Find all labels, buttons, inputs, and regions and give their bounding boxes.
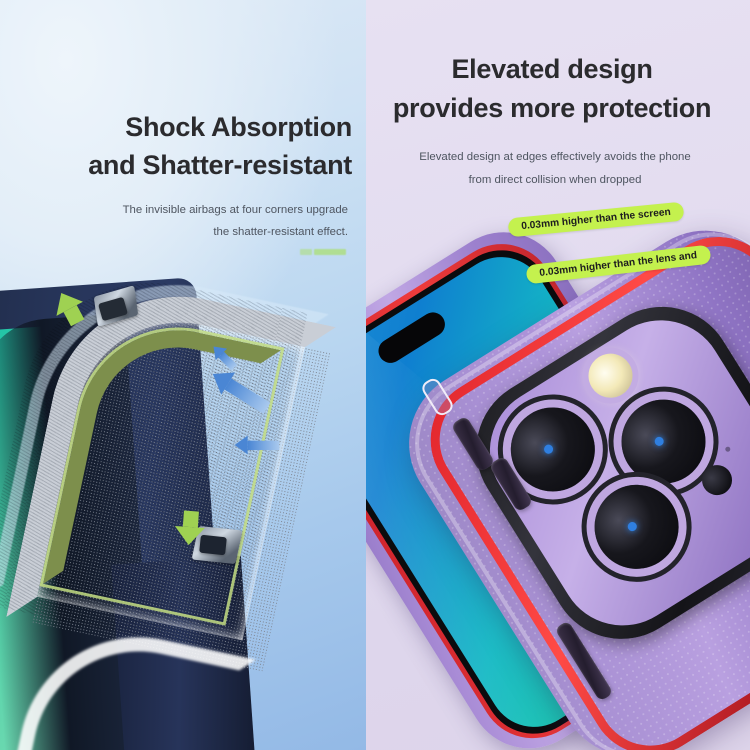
left-subtitle: The invisible airbags at four corners up… — [0, 200, 348, 244]
right-subtitle: Elevated design at edges effectively avo… — [366, 146, 744, 192]
green-highlight-artifact-small — [300, 249, 312, 255]
left-headline-line1: Shock Absorption — [0, 108, 352, 146]
right-headline: Elevated design provides more protection — [366, 50, 744, 128]
right-subtitle-line1: Elevated design at edges effectively avo… — [366, 146, 744, 169]
green-highlight-artifact — [314, 249, 346, 255]
right-headline-line1: Elevated design — [366, 50, 744, 89]
left-feature-panel: Shock Absorption and Shatter-resistant T… — [0, 0, 366, 750]
left-subtitle-line1: The invisible airbags at four corners up… — [0, 200, 348, 222]
left-headline-line2: and Shatter-resistant — [0, 146, 352, 184]
right-subtitle-line2: from direct collision when dropped — [366, 169, 744, 192]
blue-impact-arrow-3-icon — [235, 436, 280, 455]
right-headline-line2: provides more protection — [366, 89, 744, 128]
product-feature-image: Shock Absorption and Shatter-resistant T… — [0, 0, 750, 750]
right-feature-panel: 0.3MM 0.03mm — [366, 0, 750, 750]
left-subtitle-line2: the shatter-resistant effect. — [0, 222, 348, 244]
left-headline: Shock Absorption and Shatter-resistant — [0, 108, 352, 185]
